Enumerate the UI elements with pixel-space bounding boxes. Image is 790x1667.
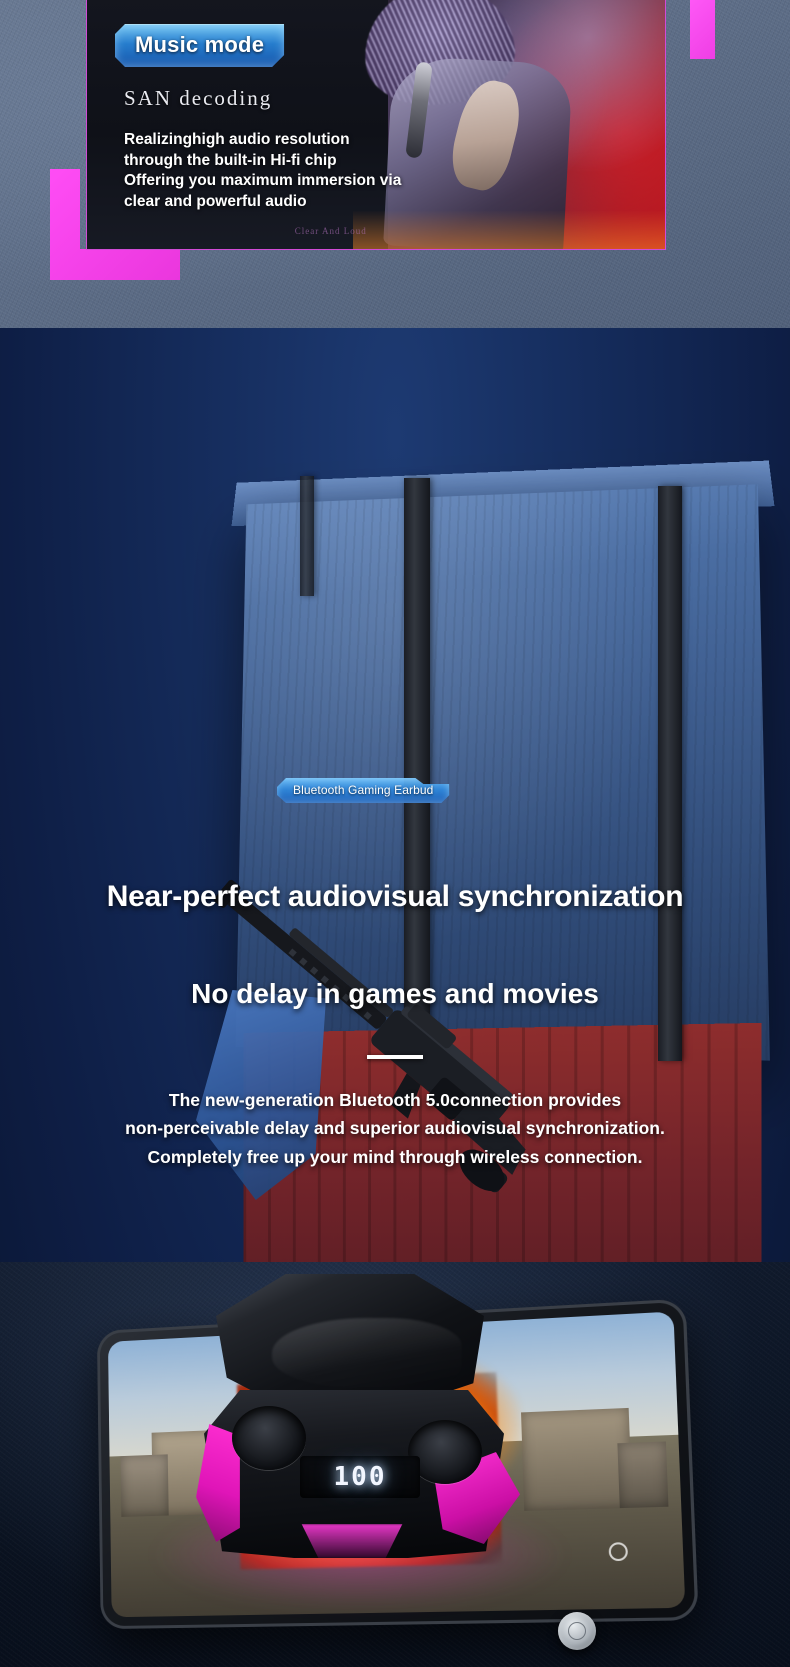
case-lid-highlight (272, 1318, 462, 1388)
product-marketing-page: Clear And Loud Music mode SAN decoding R… (0, 0, 790, 1667)
ammo-crate (236, 484, 770, 1060)
headline-secondary: No delay in games and movies (0, 978, 790, 1010)
battery-led-panel: 100 (300, 1456, 420, 1498)
section-divider (367, 1055, 423, 1059)
stage-glow (353, 210, 666, 250)
game-building (618, 1441, 669, 1508)
photo-watermark: Clear And Loud (295, 226, 367, 236)
body-line-2: non-perceivable delay and superior audio… (0, 1114, 790, 1142)
body-line-1: The new-generation Bluetooth 5.0connecti… (0, 1086, 790, 1114)
crate-strap (404, 478, 430, 1063)
music-mode-badge: Music mode (115, 24, 284, 67)
music-copy-line-4: clear and powerful audio (124, 192, 454, 213)
body-line-3: Completely free up your mind through wir… (0, 1143, 790, 1171)
music-copy-line-3: Offering you maximum immersion via (124, 171, 454, 192)
san-decoding-label: SAN decoding (124, 86, 272, 111)
gaming-body-copy: The new-generation Bluetooth 5.0connecti… (0, 1086, 790, 1171)
crate-strap (658, 486, 682, 1061)
earbud-charging-case: 100 (196, 1274, 516, 1564)
music-copy-line-2: through the built-in Hi-fi chip (124, 151, 454, 172)
music-mode-copy: Realizinghigh audio resolution through t… (124, 130, 454, 212)
music-mode-section: Clear And Loud Music mode SAN decoding R… (0, 0, 790, 328)
game-building (521, 1407, 632, 1510)
headline-primary: Near-perfect audiovisual synchronization (0, 880, 790, 914)
metal-coin-object (558, 1612, 596, 1650)
pink-bracket-top-right (690, 0, 715, 59)
crate-strap (300, 476, 314, 596)
music-copy-line-1: Realizinghigh audio resolution (124, 130, 454, 151)
battery-percentage: 100 (334, 1462, 387, 1492)
earbud-socket-left (232, 1406, 306, 1470)
